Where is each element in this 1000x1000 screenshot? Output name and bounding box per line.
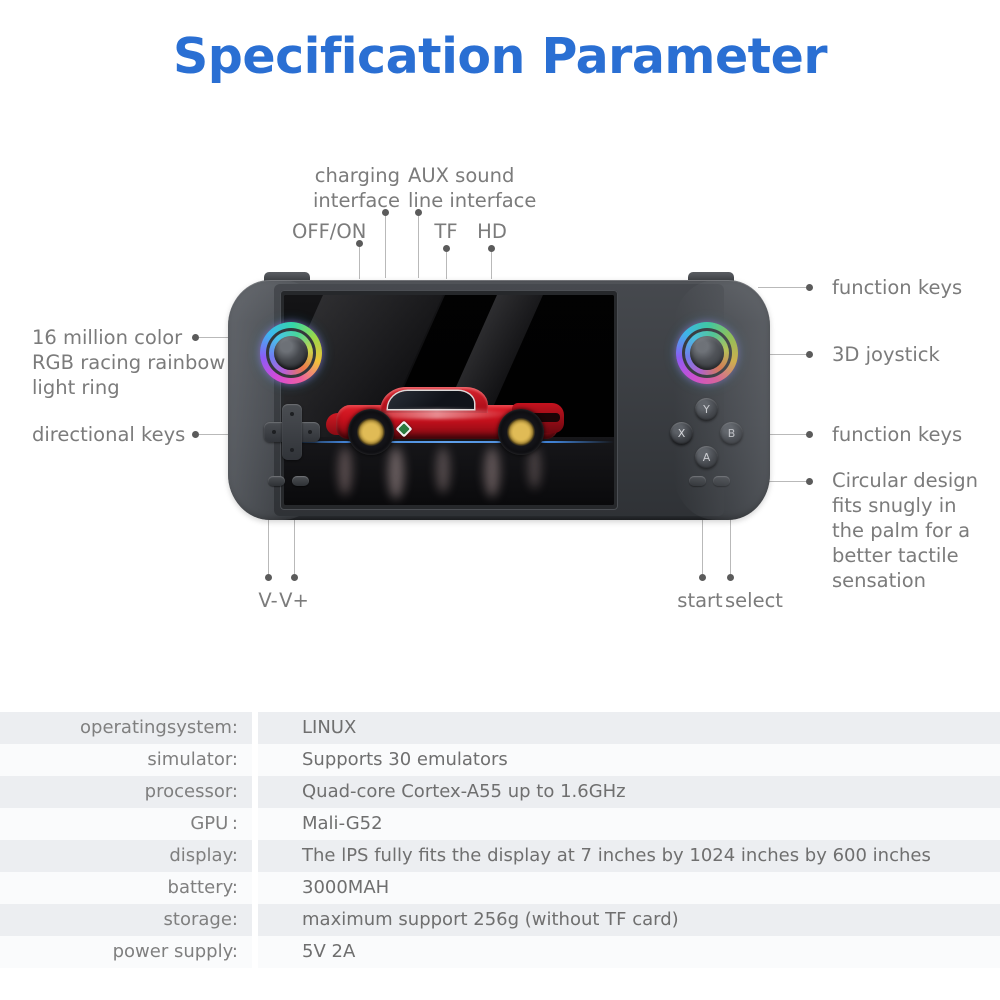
spec-row: processor:Quad-core Cortex-A55 up to 1.6…	[0, 776, 1000, 808]
spec-row: display:The lPS fully fits the display a…	[0, 840, 1000, 872]
spec-row: storage:maximum support 256g (without TF…	[0, 904, 1000, 936]
volume-up-button[interactable]	[292, 476, 309, 486]
callout-function-keys-top: function keys	[832, 275, 1000, 300]
callout-function-keys-bottom: function keys	[832, 422, 1000, 447]
spec-row: battery:3000MAH	[0, 872, 1000, 904]
screen	[284, 295, 614, 505]
start-select-buttons[interactable]	[689, 476, 730, 486]
joystick-right-cap[interactable]	[690, 336, 724, 370]
button-x[interactable]: X	[670, 422, 693, 445]
callout-dot-volume-up	[291, 574, 298, 581]
callout-off-on: OFF/ON	[292, 219, 402, 244]
callout-dot-hd	[488, 245, 495, 252]
select-button[interactable]	[713, 476, 730, 486]
spec-row-label: processor:	[0, 776, 252, 808]
screen-bezel	[280, 290, 618, 510]
volume-buttons[interactable]	[268, 476, 309, 486]
spec-row: operatingsystem:LINUX	[0, 712, 1000, 744]
spec-row-value: LINUX	[258, 712, 1000, 744]
dpad-nub-left	[272, 430, 276, 434]
start-button[interactable]	[689, 476, 706, 486]
spec-row: GPU :Mali-G52	[0, 808, 1000, 840]
spec-row-label: operatingsystem:	[0, 712, 252, 744]
dpad-nub-down	[290, 448, 294, 452]
leader-line-volume-down	[268, 512, 269, 574]
callout-dot-charging-interface	[382, 209, 389, 216]
dpad-nub-right	[308, 430, 312, 434]
car-front-wheel	[348, 409, 394, 455]
car-window	[388, 391, 474, 409]
spec-row-label: power supply:	[0, 936, 252, 968]
spec-row-label: display:	[0, 840, 252, 872]
directional-pad[interactable]	[264, 404, 320, 460]
spec-row-value: Mali-G52	[258, 808, 1000, 840]
sports-car-illustration	[322, 383, 572, 455]
leader-line-start	[702, 512, 703, 574]
specification-table: operatingsystem:LINUXsimulator:Supports …	[0, 712, 1000, 968]
callout-joystick-3d: 3D joystick	[832, 342, 1000, 367]
spec-row-label: GPU :	[0, 808, 252, 840]
page-title: Specification Parameter	[0, 28, 1000, 85]
spec-row-value: Supports 30 emulators	[258, 744, 1000, 776]
volume-down-button[interactable]	[268, 476, 285, 486]
callout-dot-function-keys-bottom	[806, 431, 813, 438]
spec-row-value: The lPS fully fits the display at 7 inch…	[258, 840, 1000, 872]
leader-line-aux	[418, 216, 419, 278]
callout-dot-tf	[443, 245, 450, 252]
car-rear-wheel	[498, 409, 544, 455]
spec-row-label: battery:	[0, 872, 252, 904]
spec-row-value: maximum support 256g (without TF card)	[258, 904, 1000, 936]
callout-circular-design: Circular design fits snugly in the palm …	[832, 468, 1000, 593]
spec-row-value: Quad-core Cortex-A55 up to 1.6GHz	[258, 776, 1000, 808]
spec-row-value: 5V 2A	[258, 936, 1000, 968]
spec-row-value: 3000MAH	[258, 872, 1000, 904]
infographic-root: Specification Parameter charging interfa…	[0, 0, 1000, 1000]
callout-hd: HD	[472, 219, 512, 244]
button-b[interactable]: B	[720, 422, 743, 445]
callout-dot-function-keys-top	[806, 284, 813, 291]
callout-tf: TF	[426, 219, 466, 244]
callout-volume-up: V+	[268, 588, 320, 613]
callout-dot-start	[699, 574, 706, 581]
button-y[interactable]: Y	[695, 398, 718, 421]
callout-dot-directional-keys	[192, 431, 199, 438]
callout-dot-select	[727, 574, 734, 581]
button-a[interactable]: A	[695, 446, 718, 469]
callout-dot-joystick-3d	[806, 351, 813, 358]
joystick-left-cap[interactable]	[274, 336, 308, 370]
joystick-right-rgb-ring[interactable]	[676, 322, 738, 384]
handheld-console-image: Y X B A	[228, 272, 770, 520]
callout-dot-volume-down	[265, 574, 272, 581]
action-buttons[interactable]: Y X B A	[670, 398, 744, 470]
callout-dot-rgb-light-ring	[192, 334, 199, 341]
spec-row: power supply:5V 2A	[0, 936, 1000, 968]
joystick-left-rgb-ring[interactable]	[260, 322, 322, 384]
callout-select: select	[722, 588, 786, 613]
spec-row-label: simulator:	[0, 744, 252, 776]
dpad-nub-up	[290, 412, 294, 416]
spec-row: simulator:Supports 30 emulators	[0, 744, 1000, 776]
device-body: Y X B A	[228, 280, 770, 520]
spec-row-label: storage:	[0, 904, 252, 936]
callout-aux-sound-line-interface: AUX sound line interface	[408, 163, 578, 213]
callout-dot-off-on	[356, 240, 363, 247]
callout-charging-interface: charging interface	[240, 163, 400, 213]
callout-dot-aux	[415, 209, 422, 216]
callout-dot-circular-design	[806, 478, 813, 485]
